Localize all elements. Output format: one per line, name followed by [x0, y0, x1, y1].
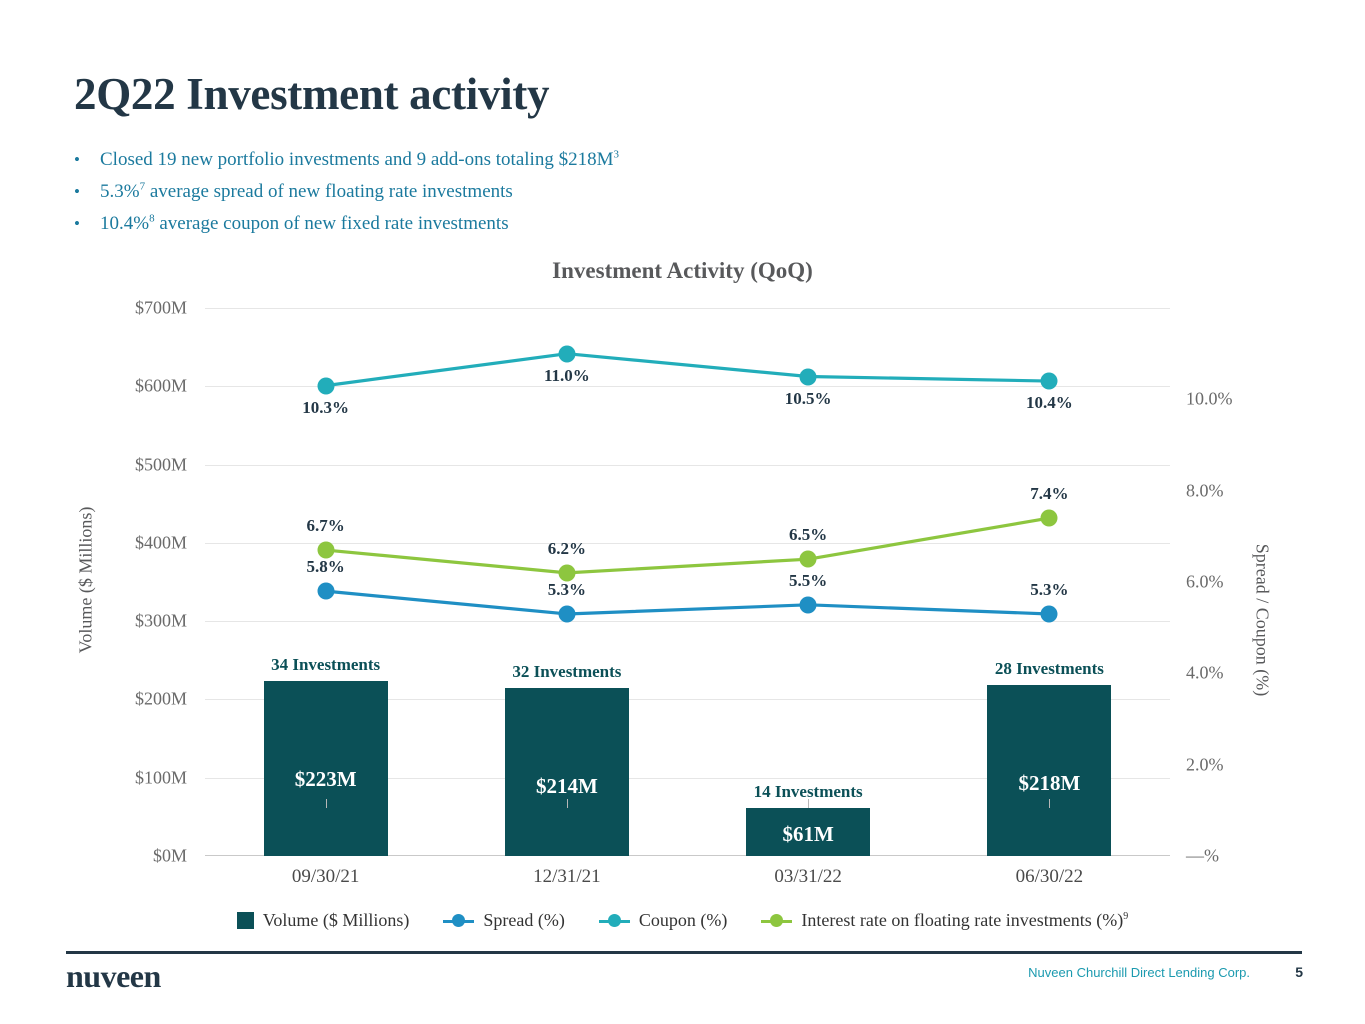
legend-item[interactable]: Volume ($ Millions)	[237, 910, 410, 931]
line-path	[326, 591, 1050, 614]
x-axis-tick-mark	[326, 799, 327, 808]
line-path	[326, 518, 1050, 573]
page-number: 5	[1295, 964, 1303, 980]
x-axis-tick-mark	[1049, 799, 1050, 808]
legend-swatch-icon	[237, 912, 254, 929]
y-axis-right-tick: 4.0%	[1186, 663, 1224, 684]
y-axis-right-tick: —%	[1186, 846, 1219, 867]
legend-label: Coupon (%)	[639, 910, 728, 931]
chart-title: Investment Activity (QoQ)	[0, 258, 1365, 284]
bullet-marker: •	[74, 212, 100, 236]
x-axis-tick-mark	[567, 799, 568, 808]
bullet-text: Closed 19 new portfolio investments and …	[100, 148, 619, 172]
x-axis-tick-label: 12/31/21	[533, 866, 601, 888]
y-axis-left-tick: $200M	[135, 689, 187, 710]
chart-legend: Volume ($ Millions)Spread (%)Coupon (%)I…	[0, 910, 1365, 931]
legend-item[interactable]: Coupon (%)	[599, 910, 728, 931]
data-point-label: 7.4%	[1030, 484, 1068, 504]
y-axis-right-tick: 10.0%	[1186, 389, 1233, 410]
data-point-label: 5.3%	[548, 580, 586, 600]
y-axis-right-tick: 8.0%	[1186, 480, 1224, 501]
plot-area: $223M34 Investments$214M32 Investments$6…	[205, 308, 1170, 856]
bullet-text: 5.3%7 average spread of new floating rat…	[100, 180, 513, 204]
bullet-item: • Closed 19 new portfolio investments an…	[74, 148, 874, 172]
data-point-label: 10.5%	[785, 389, 832, 409]
data-point-marker[interactable]	[800, 596, 817, 613]
line-series-layer	[205, 308, 1170, 856]
data-point-label: 5.8%	[307, 557, 345, 577]
data-point-label: 5.5%	[789, 571, 827, 591]
y-axis-left-tick: $400M	[135, 532, 187, 553]
data-point-marker[interactable]	[558, 345, 575, 362]
legend-label: Spread (%)	[483, 910, 564, 931]
footnote-ref: 9	[1123, 911, 1128, 922]
bullet-item: • 5.3%7 average spread of new floating r…	[74, 180, 874, 204]
bullet-text: 10.4%8 average coupon of new fixed rate …	[100, 212, 509, 236]
nuveen-logo: nuveen	[66, 958, 161, 995]
y-axis-right-tick: 2.0%	[1186, 754, 1224, 775]
legend-swatch-icon	[761, 914, 792, 928]
y-axis-left-label: Volume ($ Millions)	[76, 507, 97, 654]
bullet-marker: •	[74, 148, 100, 172]
data-point-marker[interactable]	[558, 564, 575, 581]
bullet-marker: •	[74, 180, 100, 204]
data-point-marker[interactable]	[1041, 373, 1058, 390]
legend-swatch-icon	[599, 914, 630, 928]
bullet-list: • Closed 19 new portfolio investments an…	[74, 148, 874, 244]
y-axis-left-tick: $100M	[135, 767, 187, 788]
data-point-label: 11.0%	[544, 366, 590, 386]
y-axis-right-tick: 6.0%	[1186, 572, 1224, 593]
legend-label: Interest rate on floating rate investmen…	[801, 910, 1128, 931]
data-point-label: 5.3%	[1030, 580, 1068, 600]
x-axis-tick-label: 06/30/22	[1016, 866, 1084, 888]
y-axis-left-tick: $700M	[135, 298, 187, 319]
x-axis-tick-mark	[808, 799, 809, 808]
footer-divider	[66, 951, 1302, 954]
page-title: 2Q22 Investment activity	[74, 68, 549, 120]
y-axis-left-tick: $500M	[135, 454, 187, 475]
footer-entity-name: Nuveen Churchill Direct Lending Corp.	[1028, 965, 1250, 980]
legend-item[interactable]: Interest rate on floating rate investmen…	[761, 910, 1128, 931]
x-axis-tick-label: 09/30/21	[292, 866, 360, 888]
y-axis-left-tick: $300M	[135, 611, 187, 632]
data-point-label: 10.4%	[1026, 393, 1073, 413]
data-point-marker[interactable]	[800, 368, 817, 385]
line-path	[326, 354, 1050, 386]
y-axis-left-tick: $0M	[153, 846, 187, 867]
x-axis-tick-label: 03/31/22	[774, 866, 842, 888]
y-axis-left-tick: $600M	[135, 376, 187, 397]
footnote-ref: 3	[613, 149, 619, 161]
data-point-label: 6.7%	[307, 516, 345, 536]
y-axis-right-label: Spread / Coupon (%)	[1252, 544, 1273, 696]
data-point-label: 6.2%	[548, 539, 586, 559]
legend-swatch-icon	[443, 914, 474, 928]
investment-activity-chart: Investment Activity (QoQ) Volume ($ Mill…	[0, 250, 1365, 950]
data-point-marker[interactable]	[317, 542, 334, 559]
data-point-label: 10.3%	[302, 398, 349, 418]
data-point-label: 6.5%	[789, 525, 827, 545]
legend-item[interactable]: Spread (%)	[443, 910, 564, 931]
bullet-item: • 10.4%8 average coupon of new fixed rat…	[74, 212, 874, 236]
data-point-marker[interactable]	[800, 551, 817, 568]
data-point-marker[interactable]	[317, 583, 334, 600]
data-point-marker[interactable]	[317, 377, 334, 394]
data-point-marker[interactable]	[1041, 510, 1058, 527]
data-point-marker[interactable]	[1041, 605, 1058, 622]
legend-label: Volume ($ Millions)	[263, 910, 410, 931]
data-point-marker[interactable]	[558, 605, 575, 622]
